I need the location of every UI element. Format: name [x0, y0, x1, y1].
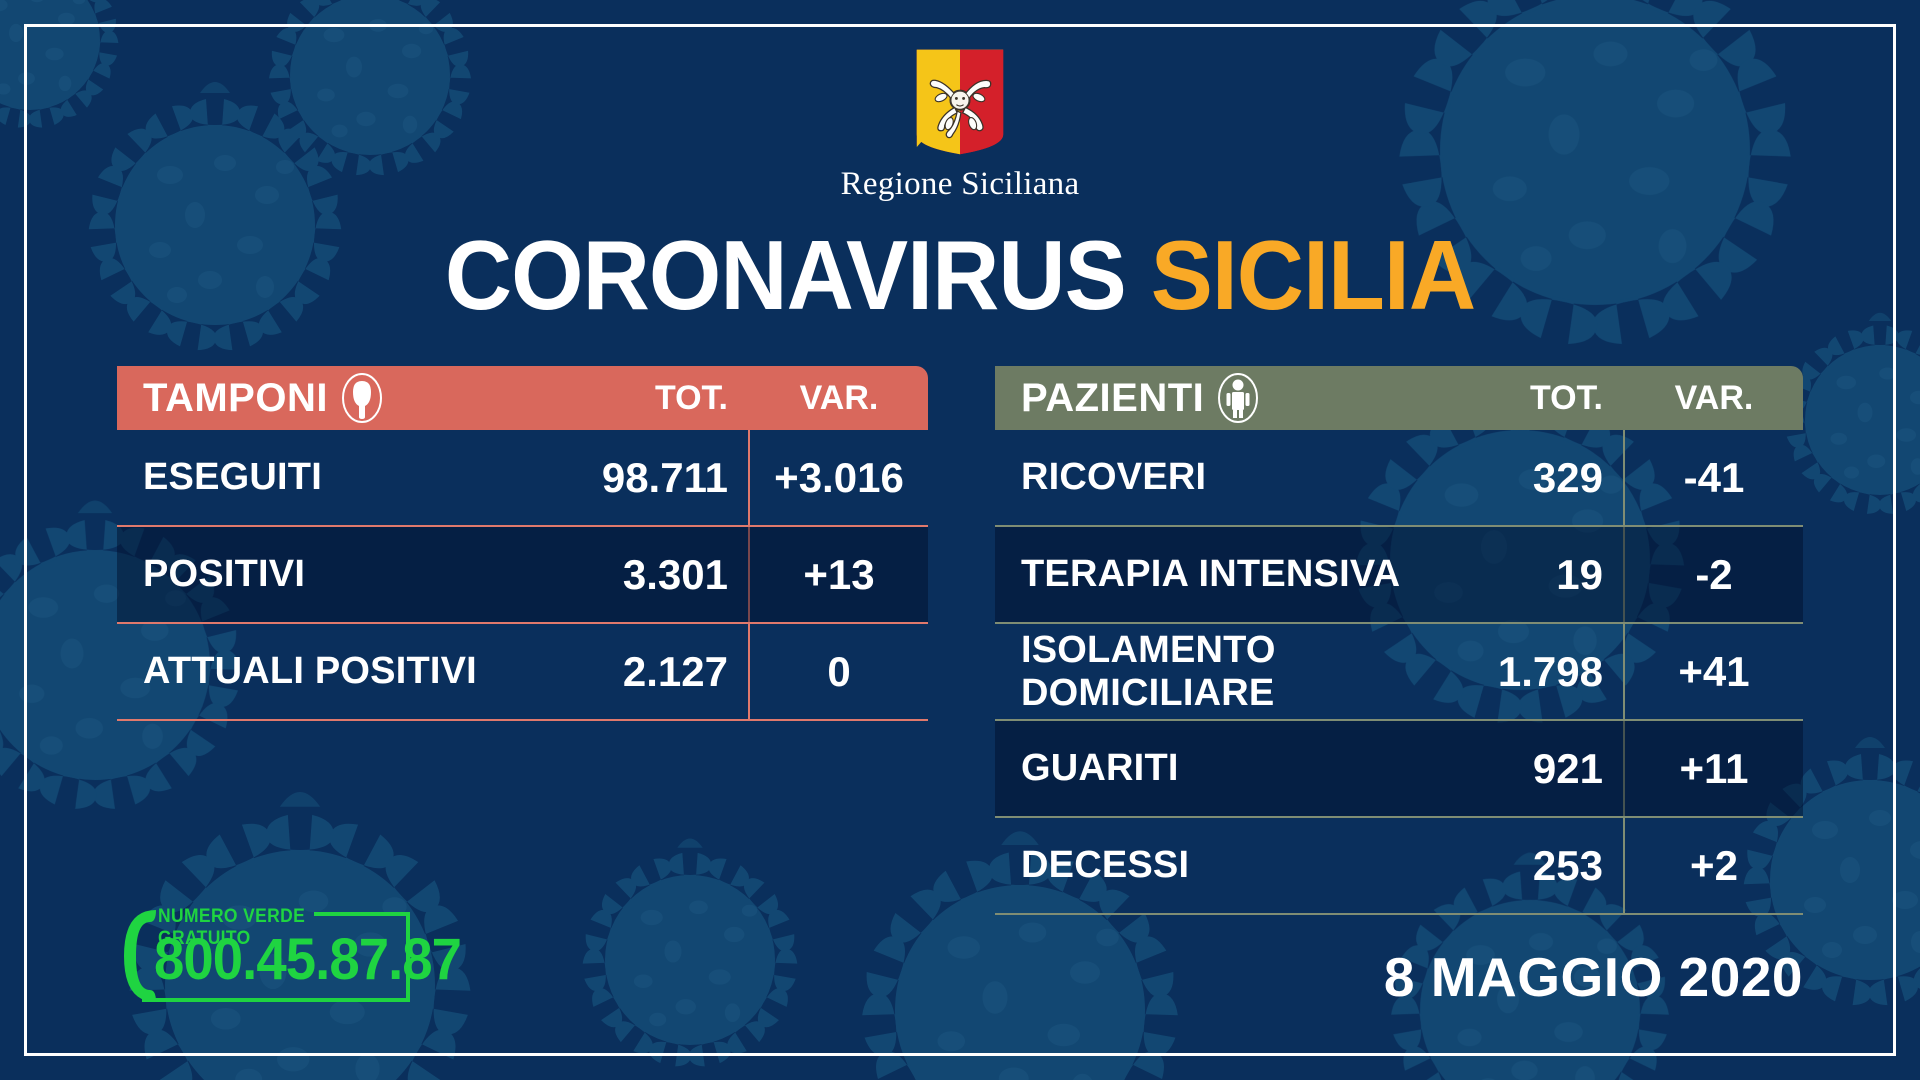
table-bottom-border — [995, 913, 1803, 915]
row-total: 253 — [1455, 842, 1625, 890]
table-tamponi-title: TAMPONI — [143, 376, 328, 421]
row-total: 921 — [1455, 745, 1625, 793]
row-label: ISOLAMENTO DOMICILIARE — [995, 629, 1455, 715]
table-tamponi-body: ESEGUITI 98.711 +3.016 POSITIVI 3.301 +1… — [117, 430, 928, 721]
table-pazienti-col-total: TOT. — [1455, 379, 1625, 418]
table-pazienti: PAZIENTI TOT. VAR. RICOVERI 329 -41 — [995, 366, 1803, 915]
row-label: RICOVERI — [995, 456, 1455, 499]
table-pazienti-title: PAZIENTI — [1021, 376, 1204, 421]
row-label: ATTUALI POSITIVI — [117, 650, 580, 693]
person-icon — [1216, 372, 1260, 424]
row-total: 1.798 — [1455, 648, 1625, 696]
report-date: 8 MAGGIO 2020 — [1384, 945, 1803, 1009]
table-tamponi-col-total: TOT. — [580, 379, 750, 418]
table-tamponi: TAMPONI TOT. VAR. ESEGUITI 98.711 +3.016… — [117, 366, 928, 721]
hotline-box: NUMERO VERDE GRATUITO 800.45.87.87 — [120, 900, 420, 1010]
row-var: 0 — [750, 648, 928, 696]
hotline-number: 800.45.87.87 — [154, 926, 461, 993]
row-var: +13 — [750, 551, 928, 599]
region-name-label: Regione Siciliana — [841, 166, 1080, 203]
title-accent: SICILIA — [1151, 220, 1475, 330]
row-var: +3.016 — [750, 454, 928, 502]
row-label: GUARITI — [995, 747, 1455, 790]
table-bottom-border — [117, 719, 928, 721]
row-label: POSITIVI — [117, 553, 580, 596]
row-label: ESEGUITI — [117, 456, 580, 499]
row-var: +2 — [1625, 842, 1803, 890]
row-label: DECESSI — [995, 844, 1455, 887]
row-total: 19 — [1455, 551, 1625, 599]
table-row: ESEGUITI 98.711 +3.016 — [117, 430, 928, 525]
page-title: CORONAVIRUS SICILIA — [48, 226, 1872, 324]
table-tamponi-title-cell: TAMPONI — [117, 372, 580, 424]
table-row: RICOVERI 329 -41 — [995, 430, 1803, 525]
row-var: -41 — [1625, 454, 1803, 502]
table-row: ISOLAMENTO DOMICILIARE 1.798 +41 — [995, 624, 1803, 719]
table-row: GUARITI 921 +11 — [995, 721, 1803, 816]
table-tamponi-header: TAMPONI TOT. VAR. — [117, 366, 928, 430]
table-pazienti-body: RICOVERI 329 -41 TERAPIA INTENSIVA 19 -2… — [995, 430, 1803, 915]
table-row: POSITIVI 3.301 +13 — [117, 527, 928, 622]
row-var: +41 — [1625, 648, 1803, 696]
region-logo-block: Regione Siciliana — [0, 48, 1920, 203]
row-total: 329 — [1455, 454, 1625, 502]
table-row: ATTUALI POSITIVI 2.127 0 — [117, 624, 928, 719]
table-tamponi-col-var: VAR. — [750, 379, 928, 418]
table-pazienti-header: PAZIENTI TOT. VAR. — [995, 366, 1803, 430]
table-row: TERAPIA INTENSIVA 19 -2 — [995, 527, 1803, 622]
table-row: DECESSI 253 +2 — [995, 818, 1803, 913]
title-primary: CORONAVIRUS — [445, 220, 1126, 330]
row-total: 2.127 — [580, 648, 750, 696]
row-total: 98.711 — [580, 454, 750, 502]
row-var: +11 — [1625, 745, 1803, 793]
table-pazienti-col-var: VAR. — [1625, 379, 1803, 418]
swab-icon — [340, 372, 384, 424]
row-total: 3.301 — [580, 551, 750, 599]
row-label: TERAPIA INTENSIVA — [995, 553, 1455, 596]
trinacria-crest-icon — [915, 48, 1005, 156]
row-var: -2 — [1625, 551, 1803, 599]
table-pazienti-title-cell: PAZIENTI — [995, 372, 1455, 424]
